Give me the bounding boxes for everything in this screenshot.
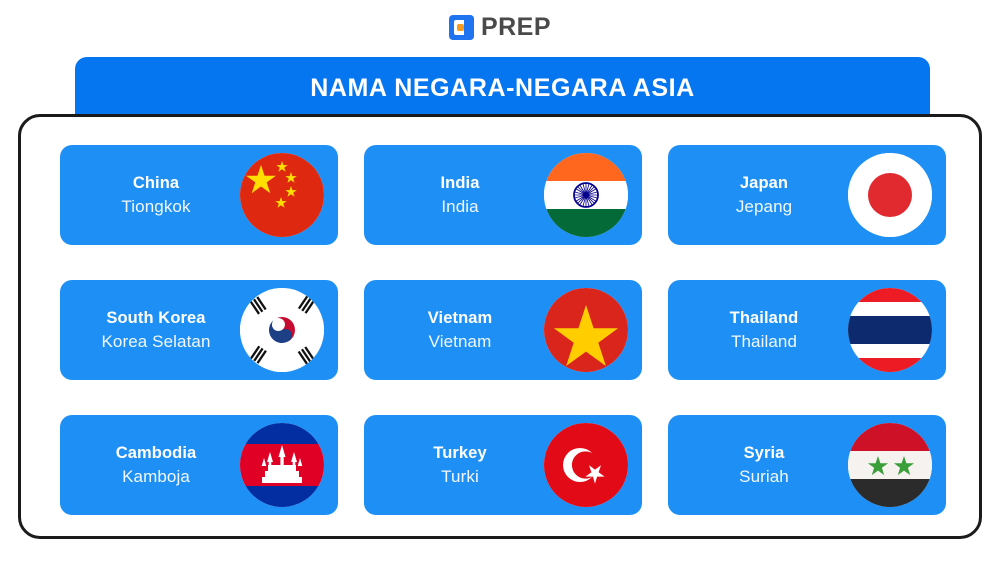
country-card-text: South KoreaKorea Selatan: [60, 308, 240, 352]
country-name-en: South Korea: [74, 308, 238, 329]
country-name-id: Tiongkok: [74, 196, 238, 217]
flag-china-icon: [240, 153, 324, 237]
country-name-id: Suriah: [682, 466, 846, 487]
country-name-id: Vietnam: [378, 331, 542, 352]
infographic-root: PREP PREP NAMA NEGARA-NEGARA ASIA ChinaT…: [0, 0, 1000, 563]
brand-logo: PREP: [0, 13, 1000, 42]
country-card-text: SyriaSuriah: [668, 443, 848, 487]
country-name-en: China: [74, 173, 238, 194]
country-name-en: Cambodia: [74, 443, 238, 464]
flag-cambodia-icon: [240, 423, 324, 507]
country-card-text: ChinaTiongkok: [60, 173, 240, 217]
country-name-en: Vietnam: [378, 308, 542, 329]
flag-syria-icon: [848, 423, 932, 507]
country-name-en: India: [378, 173, 542, 194]
country-card[interactable]: SyriaSuriah: [668, 415, 946, 515]
title-banner: NAMA NEGARA-NEGARA ASIA: [75, 57, 930, 119]
country-name-id: Kamboja: [74, 466, 238, 487]
country-card[interactable]: ChinaTiongkok: [60, 145, 338, 245]
country-name-id: Thailand: [682, 331, 846, 352]
country-name-en: Japan: [682, 173, 846, 194]
country-card-text: JapanJepang: [668, 173, 848, 217]
flag-india-icon: [544, 153, 628, 237]
prep-logo-icon: [449, 15, 474, 40]
flag-japan-icon: [848, 153, 932, 237]
prep-logo-dot-icon: [457, 24, 464, 31]
country-name-id: India: [378, 196, 542, 217]
flag-vietnam-icon: [544, 288, 628, 372]
country-card[interactable]: TurkeyTurki: [364, 415, 642, 515]
flag-turkey-icon: [544, 423, 628, 507]
country-card-text: VietnamVietnam: [364, 308, 544, 352]
country-card-text: TurkeyTurki: [364, 443, 544, 487]
country-card-text: CambodiaKamboja: [60, 443, 240, 487]
content-frame: ChinaTiongkok IndiaIndia JapanJepang Sou…: [18, 114, 982, 539]
brand-name: PREP: [481, 13, 551, 42]
country-name-id: Turki: [378, 466, 542, 487]
country-card-text: IndiaIndia: [364, 173, 544, 217]
country-card[interactable]: IndiaIndia: [364, 145, 642, 245]
country-name-en: Thailand: [682, 308, 846, 329]
country-card[interactable]: JapanJepang: [668, 145, 946, 245]
country-name-id: Korea Selatan: [74, 331, 238, 352]
country-card[interactable]: ThailandThailand: [668, 280, 946, 380]
country-name-en: Turkey: [378, 443, 542, 464]
flag-thailand-icon: [848, 288, 932, 372]
page-title: NAMA NEGARA-NEGARA ASIA: [310, 74, 695, 103]
country-name-id: Jepang: [682, 196, 846, 217]
country-card[interactable]: South KoreaKorea Selatan: [60, 280, 338, 380]
country-grid: ChinaTiongkok IndiaIndia JapanJepang Sou…: [60, 145, 946, 515]
country-card[interactable]: CambodiaKamboja: [60, 415, 338, 515]
country-name-en: Syria: [682, 443, 846, 464]
country-card-text: ThailandThailand: [668, 308, 848, 352]
flag-south-korea-icon: [240, 288, 324, 372]
country-card[interactable]: VietnamVietnam: [364, 280, 642, 380]
